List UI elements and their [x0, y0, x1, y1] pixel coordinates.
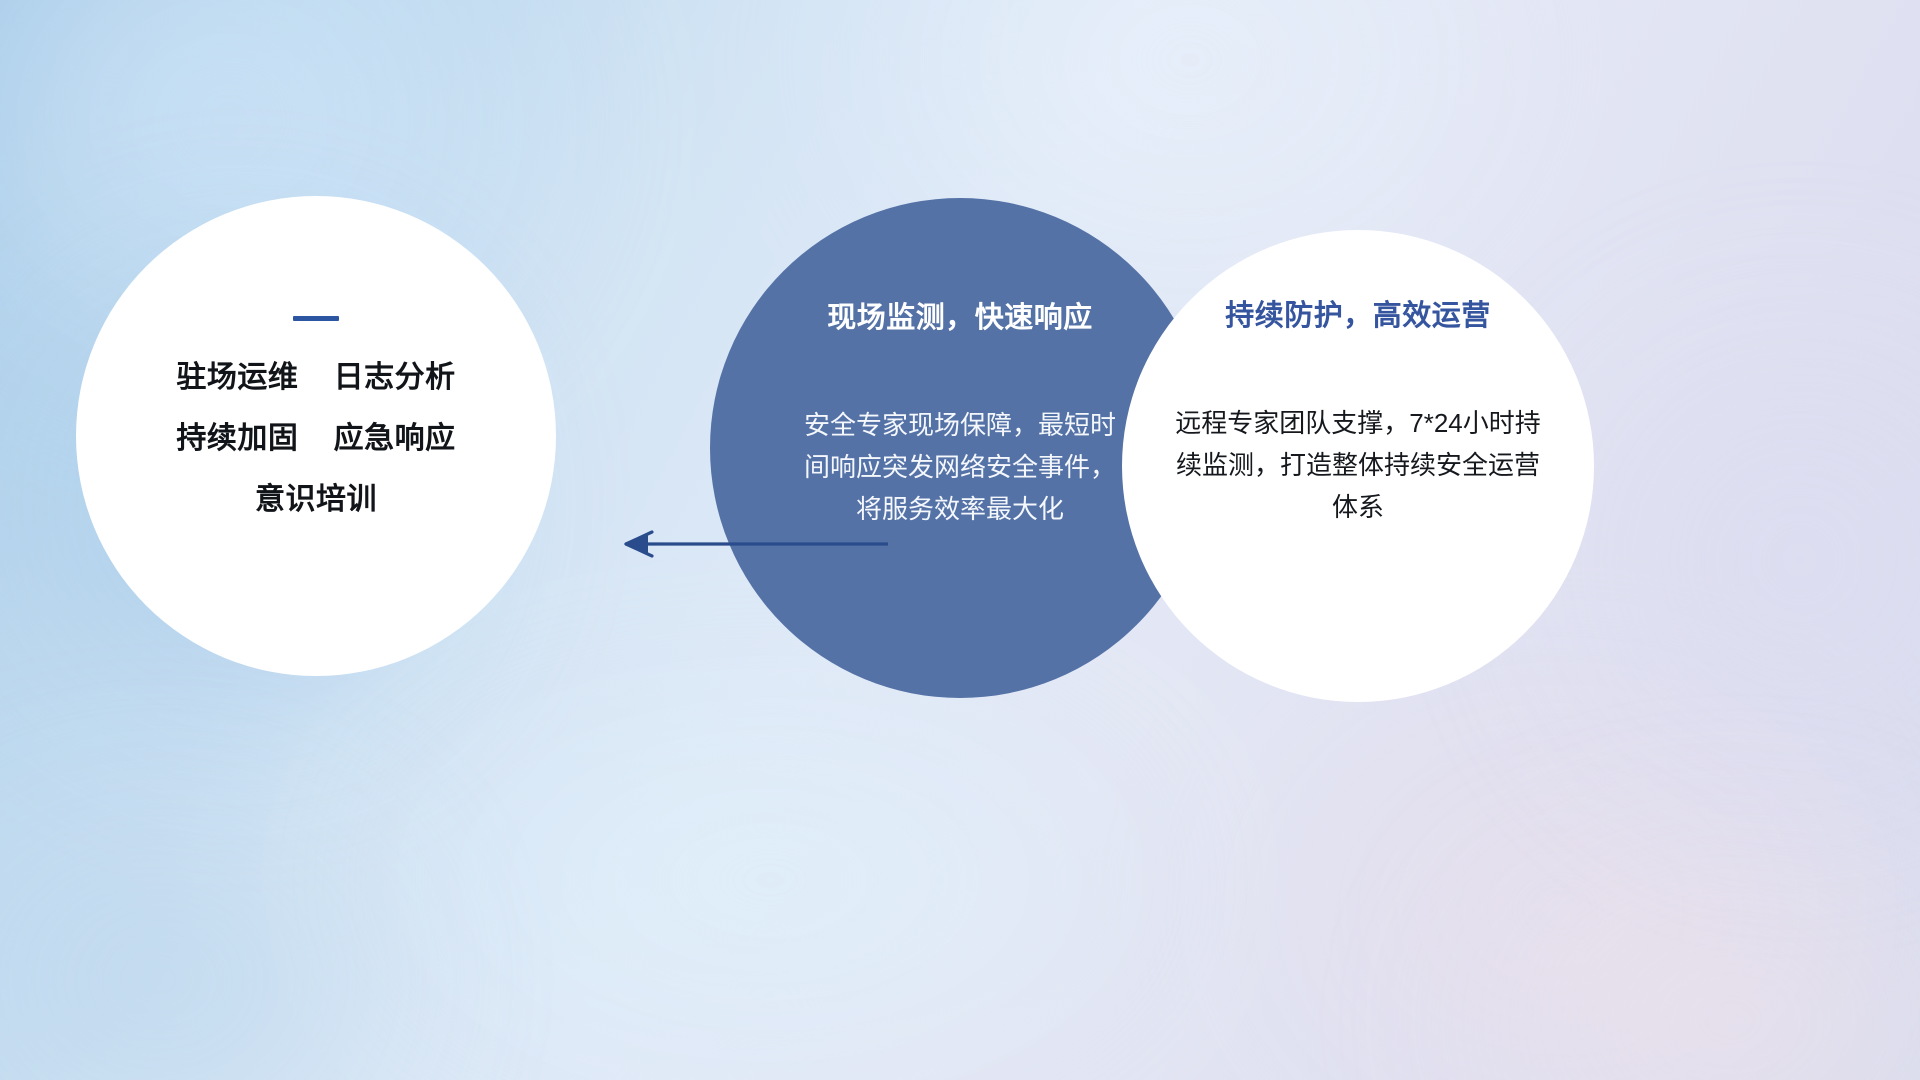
slide-canvas: 驻场运维 日志分析 持续加固 应急响应 意识培训 现场监测，快速响应 安全专家现…	[0, 0, 1920, 1080]
flow-arrow-left	[596, 516, 888, 572]
onsite-description: 安全专家现场保障，最短时间响应突发网络安全事件，将服务效率最大化	[802, 404, 1118, 530]
arrow-left-icon	[596, 516, 888, 572]
continuous-description: 远程专家团队支撑，7*24小时持续监测，打造整体持续安全运营体系	[1165, 402, 1551, 528]
capability-list: 驻场运维 日志分析 持续加固 应急响应 意识培训	[76, 363, 556, 515]
service-circle-continuous[interactable]: 持续防护，高效运营 远程专家团队支撑，7*24小时持续监测，打造整体持续安全运营…	[1122, 230, 1594, 702]
capability-line-2: 持续加固 应急响应	[76, 424, 556, 454]
capability-line-3: 意识培训	[76, 485, 556, 515]
capability-circle-left[interactable]: 驻场运维 日志分析 持续加固 应急响应 意识培训	[76, 196, 556, 676]
divider-dash-icon	[293, 316, 339, 321]
onsite-title: 现场监测，快速响应	[827, 294, 1093, 336]
capability-line-1: 驻场运维 日志分析	[76, 363, 556, 393]
continuous-title: 持续防护，高效运营	[1225, 292, 1491, 334]
